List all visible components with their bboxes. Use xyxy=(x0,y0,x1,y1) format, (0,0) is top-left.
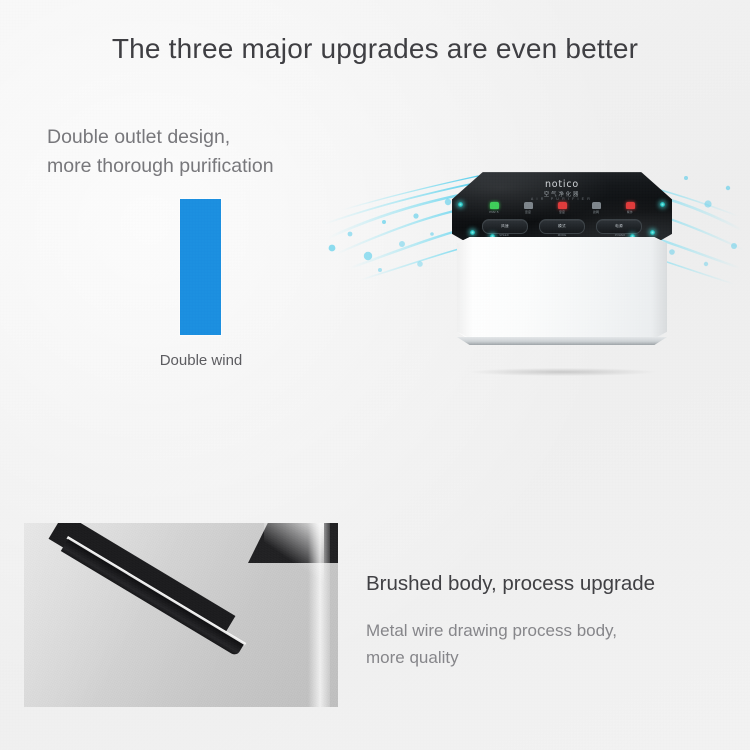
indicator-label-filter: 滤网 xyxy=(582,210,610,214)
power-button[interactable]: 电源 xyxy=(596,219,642,234)
indicator-dot-temperature xyxy=(524,202,533,209)
feature-two-line2: more quality xyxy=(366,644,617,671)
power-button-caption: POWER xyxy=(598,233,642,237)
indicator-pm25: PM2.5 xyxy=(480,202,508,214)
feature-one-description: Double outlet design, more thorough puri… xyxy=(47,123,274,181)
photo-brushed-grain xyxy=(24,523,338,707)
speed-button-caption: SPEED xyxy=(482,233,526,237)
brand-subtitle-secondary: AIR PURIFIER xyxy=(452,197,672,201)
air-purifier-device: notico 空气净化器 AIR PURIFIER PM2.5 温度 湿度 滤网 xyxy=(452,172,672,372)
indicator-label-pm25: PM2.5 xyxy=(480,210,508,214)
led-indicator-top-right xyxy=(660,202,665,207)
device-drop-shadow xyxy=(470,368,655,376)
panel-button-row: 风速 模式 电源 xyxy=(482,219,642,234)
brushed-metal-photo xyxy=(24,523,338,707)
device-body-left-bevel xyxy=(457,237,473,340)
speed-button[interactable]: 风速 xyxy=(482,219,528,234)
feature-two-line1: Metal wire drawing process body, xyxy=(366,621,617,640)
indicator-filter: 滤网 xyxy=(582,202,610,214)
feature-one-line2: more thorough purification xyxy=(47,152,274,181)
mode-button-caption: MODE xyxy=(540,233,584,237)
indicator-label-uv: 紫外 xyxy=(616,210,644,214)
indicator-dot-uv xyxy=(626,202,635,209)
device-body-right-bevel xyxy=(651,237,667,340)
airflow-bubbles-left xyxy=(329,184,472,272)
led-indicator-mid-right xyxy=(650,230,655,235)
indicator-temperature: 温度 xyxy=(514,202,542,214)
feature-two-title: Brushed body, process upgrade xyxy=(366,572,655,596)
led-indicator-bottom-left xyxy=(470,230,475,235)
feature-two-description: Metal wire drawing process body, more qu… xyxy=(366,617,617,671)
feature-one-line1: Double outlet design, xyxy=(47,126,230,148)
page-title: The three major upgrades are even better xyxy=(0,33,750,65)
led-indicator-top-left xyxy=(458,202,463,207)
indicator-dot-humidity xyxy=(558,202,567,209)
indicator-uv: 紫外 xyxy=(616,202,644,214)
indicator-label-humidity: 湿度 xyxy=(548,210,576,214)
double-wind-bar xyxy=(180,199,221,335)
double-wind-caption: Double wind xyxy=(120,352,282,369)
indicator-dot-pm25 xyxy=(490,202,499,209)
mode-button[interactable]: 模式 xyxy=(539,219,585,234)
brand-logo: notico xyxy=(452,179,672,190)
device-body xyxy=(457,237,667,340)
device-base xyxy=(457,337,667,345)
indicator-row: PM2.5 温度 湿度 滤网 紫外 xyxy=(480,202,644,214)
indicator-dot-filter xyxy=(592,202,601,209)
indicator-humidity: 湿度 xyxy=(548,202,576,214)
product-infographic-page: The three major upgrades are even better… xyxy=(0,0,750,750)
indicator-label-temperature: 温度 xyxy=(514,210,542,214)
